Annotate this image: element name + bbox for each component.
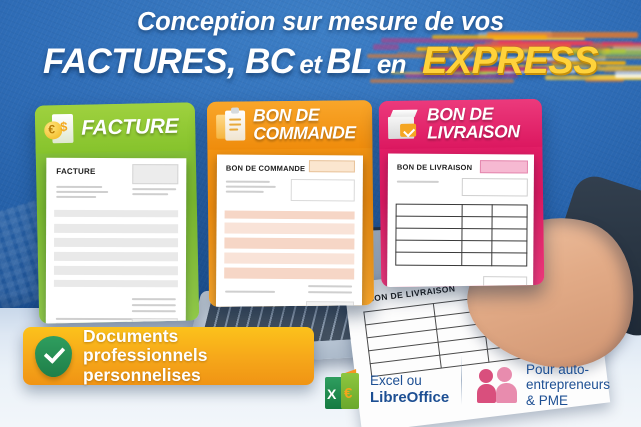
headline-line2: FACTURES, BC et BL en EXPRESS	[0, 40, 641, 83]
headline-part-b: et	[294, 49, 326, 80]
facture-doc-title: FACTURE	[56, 167, 95, 176]
facture-sheet: FACTURE	[46, 158, 187, 324]
check-shield-icon	[35, 336, 72, 377]
badge-text: Documents professionnels personnelises	[83, 327, 302, 386]
card-facture[interactable]: €$ FACTURE FACTURE	[35, 102, 200, 323]
card-livraison-title-l2: LIVRAISON	[427, 121, 520, 142]
footer-excel-libreoffice[interactable]: X € Excel ou LibreOffice	[325, 371, 449, 409]
card-commande-title: BON DE COMMANDE	[253, 106, 356, 143]
livraison-doc-title: BON DE LIVRAISON	[397, 163, 472, 173]
spreadsheet-x-glyph: X	[327, 386, 336, 402]
card-bon-de-livraison[interactable]: BON DE LIVRAISON BON DE LIVRAISON	[379, 99, 545, 287]
card-bon-de-commande[interactable]: BON DE COMMANDE BON DE COMMANDE	[207, 100, 374, 307]
commande-sheet: BON DE COMMANDE	[216, 155, 363, 307]
footer-users-text: Pour auto- entrepreneurs & PME	[526, 362, 610, 409]
card-livraison-body: BON DE LIVRAISON	[379, 147, 544, 287]
card-livraison-header: BON DE LIVRAISON	[379, 99, 543, 149]
footer-excel-text: Excel ou LibreOffice	[370, 373, 449, 406]
spreadsheet-euro-glyph: €	[344, 385, 352, 402]
footer-users-line2: entrepreneurs	[526, 377, 610, 392]
headline-express: EXPRESS	[422, 40, 598, 82]
headline-part-d: en	[372, 49, 412, 80]
footer-users-line3: & PME	[526, 393, 568, 408]
badge-line2: personnelises	[83, 365, 201, 385]
headline-part-c: BL	[326, 42, 371, 82]
headline-block: Conception sur mesure de vos FACTURES, B…	[0, 8, 641, 83]
commande-doc-title: BON DE COMMANDE	[226, 164, 305, 174]
two-people-icon	[477, 367, 517, 403]
card-facture-body: FACTURE	[36, 150, 200, 323]
footer-excel-line2: LibreOffice	[370, 389, 449, 406]
clipboard-icon	[216, 109, 246, 142]
footer-users-line1: Pour auto-	[526, 362, 589, 377]
invoice-coin-icon: €$	[44, 113, 75, 146]
badge-documents-professionnels[interactable]: Documents professionnels personnelises	[23, 327, 314, 385]
express-highlight-wrap: EXPRESS	[422, 40, 598, 83]
card-commande-body: BON DE COMMANDE	[207, 148, 374, 307]
badge-line1: Documents professionnels	[83, 326, 207, 366]
card-livraison-title: BON DE LIVRAISON	[427, 105, 520, 142]
promo-banner: Conception sur mesure de vos FACTURES, B…	[0, 0, 641, 427]
package-box-icon	[388, 109, 420, 140]
card-commande-header: BON DE COMMANDE	[207, 100, 372, 150]
headline-part-a: FACTURES, BC	[43, 42, 294, 82]
card-facture-header: €$ FACTURE	[35, 102, 196, 153]
footer-target-audience[interactable]: Pour auto- entrepreneurs & PME	[477, 362, 610, 409]
footer-excel-line1: Excel ou	[370, 373, 422, 388]
card-facture-title: FACTURE	[81, 116, 179, 139]
headline-line1: Conception sur mesure de vos	[0, 8, 641, 37]
footer-divider	[461, 355, 462, 405]
livraison-sheet: BON DE LIVRAISON	[387, 154, 534, 288]
card-commande-title-l2: COMMANDE	[253, 122, 356, 143]
spreadsheet-icon: X €	[325, 371, 361, 409]
